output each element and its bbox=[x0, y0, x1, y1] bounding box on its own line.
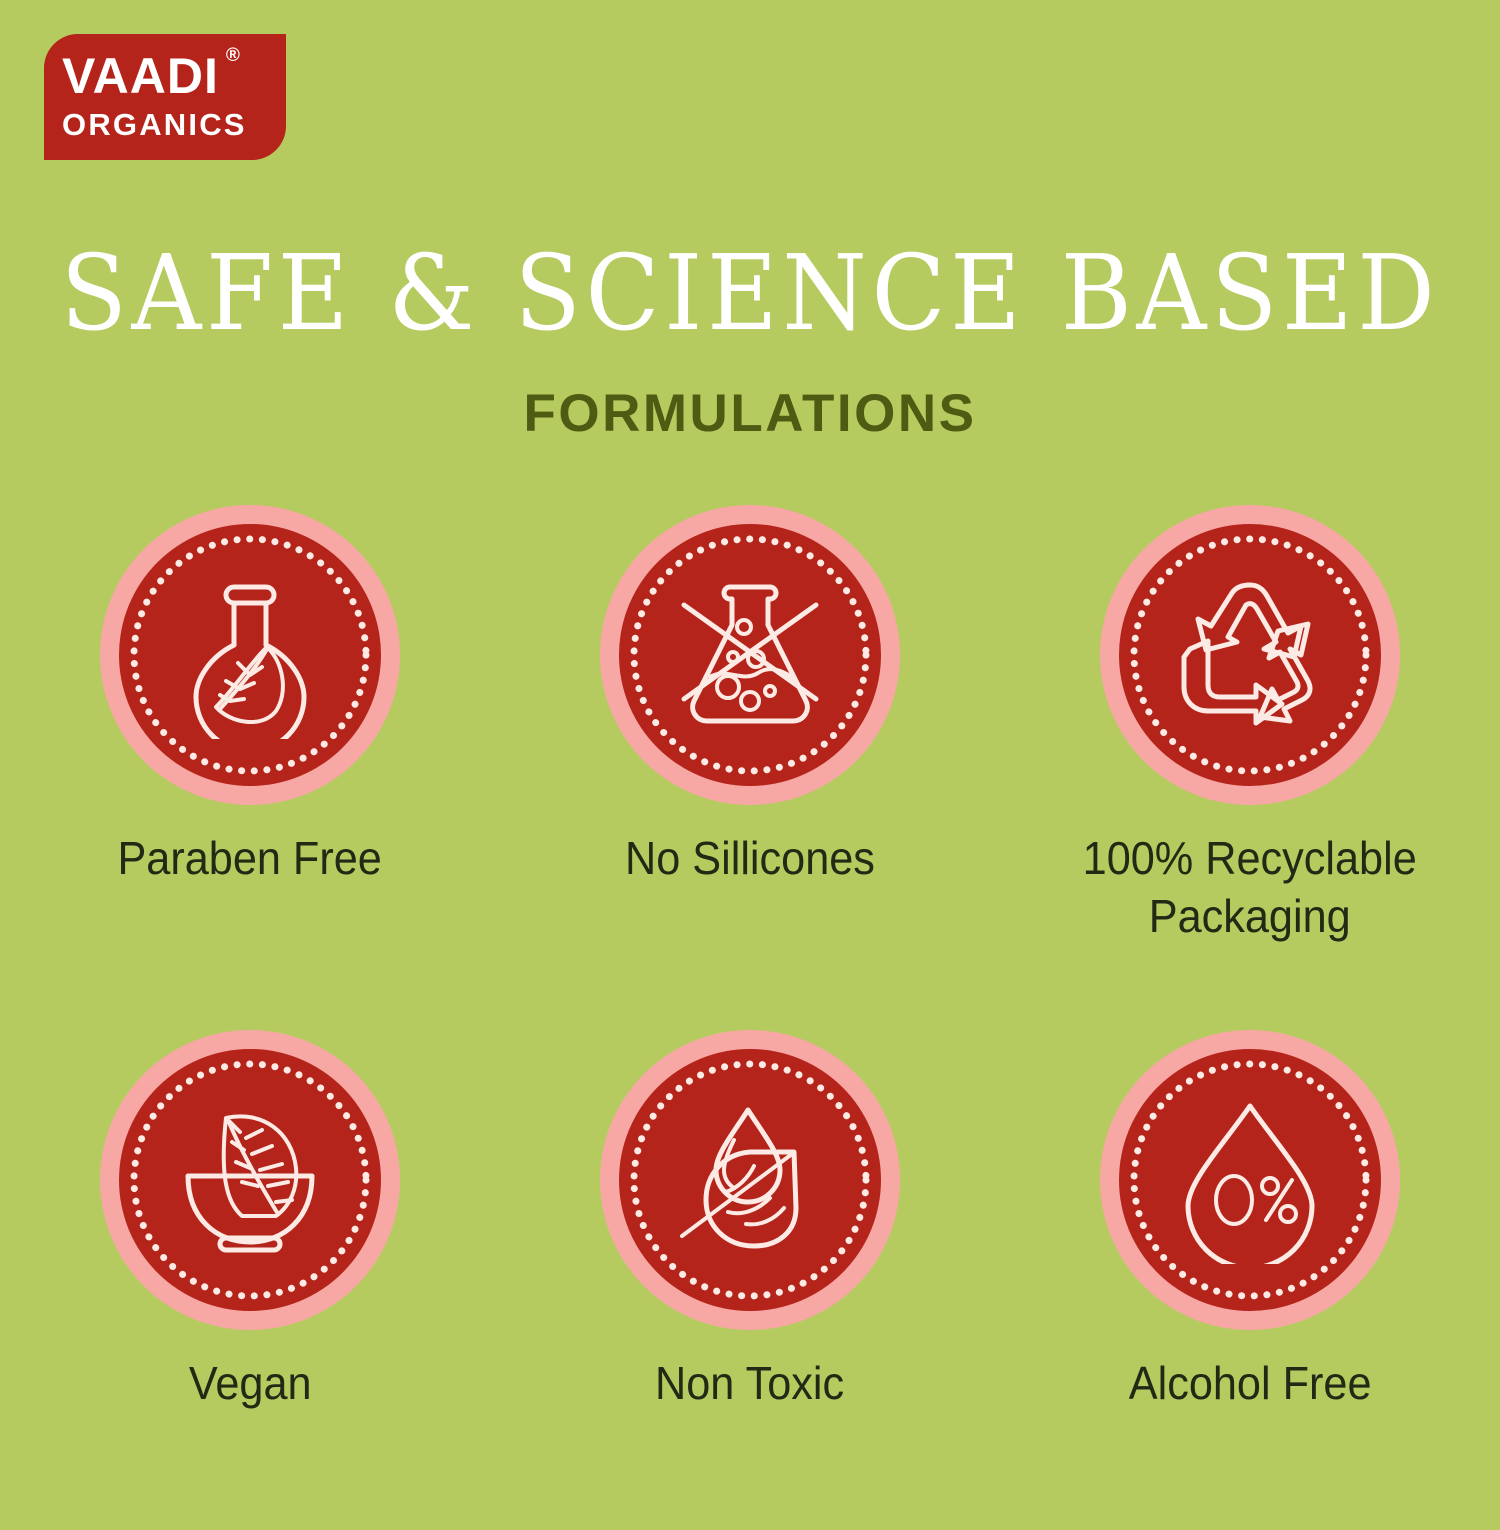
feature-label-line: Paraben Free bbox=[118, 829, 382, 887]
feature-badge bbox=[600, 505, 900, 805]
feature-item-recyclable-packaging: 100% Recyclable Packaging bbox=[1000, 505, 1500, 1030]
feature-item-no-sillicones: No Sillicones bbox=[500, 505, 1000, 1030]
crossed-out-erlenmeyer-flask-icon bbox=[666, 571, 834, 739]
feature-label-line: Alcohol Free bbox=[1129, 1354, 1372, 1412]
feature-label-line: Packaging bbox=[1083, 887, 1417, 945]
feature-label: Non Toxic bbox=[655, 1354, 844, 1412]
feature-badge-inner bbox=[1119, 1049, 1381, 1311]
brand-name: VAADI® bbox=[62, 48, 219, 104]
feature-badge bbox=[100, 505, 400, 805]
registered-trademark-icon: ® bbox=[226, 46, 241, 65]
feature-label-line: Non Toxic bbox=[655, 1354, 844, 1412]
feature-item-non-toxic: Non Toxic bbox=[500, 1030, 1000, 1530]
feature-badge bbox=[600, 1030, 900, 1330]
feature-badge-inner bbox=[119, 1049, 381, 1311]
feature-badge-inner bbox=[119, 524, 381, 786]
brand-logo-badge: VAADI® ORGANICS bbox=[44, 34, 286, 160]
feature-badge-inner bbox=[619, 524, 881, 786]
feature-grid: Paraben Free bbox=[0, 505, 1500, 1530]
feature-badge bbox=[1100, 505, 1400, 805]
feature-badge-inner bbox=[1119, 524, 1381, 786]
recycling-arrows-icon bbox=[1166, 571, 1334, 739]
feature-label: Alcohol Free bbox=[1129, 1354, 1372, 1412]
feature-badge bbox=[100, 1030, 400, 1330]
feature-badge-inner bbox=[619, 1049, 881, 1311]
feature-label-line: Vegan bbox=[189, 1354, 312, 1412]
feature-item-alcohol-free: Alcohol Free bbox=[1000, 1030, 1500, 1530]
page-subtitle: FORMULATIONS bbox=[0, 383, 1500, 445]
brand-name-text: VAADI bbox=[62, 48, 219, 104]
feature-label: 100% Recyclable Packaging bbox=[1083, 829, 1417, 945]
feature-badge bbox=[1100, 1030, 1400, 1330]
feature-item-vegan: Vegan bbox=[0, 1030, 500, 1530]
feature-label: Paraben Free bbox=[118, 829, 382, 887]
droplet-zero-percent-icon bbox=[1166, 1096, 1334, 1264]
flask-with-leaf-icon bbox=[166, 571, 334, 739]
feature-label-line: No Sillicones bbox=[625, 829, 875, 887]
feature-label-line: 100% Recyclable bbox=[1083, 829, 1417, 887]
droplet-on-leaf-icon bbox=[666, 1096, 834, 1264]
feature-label: Vegan bbox=[189, 1354, 312, 1412]
feature-item-paraben-free: Paraben Free bbox=[0, 505, 500, 1030]
page-title: SAFE & SCIENCE BASED bbox=[53, 234, 1448, 352]
brand-subname: ORGANICS bbox=[62, 106, 286, 144]
feature-label: No Sillicones bbox=[625, 829, 875, 887]
bowl-with-leaf-icon bbox=[166, 1096, 334, 1264]
